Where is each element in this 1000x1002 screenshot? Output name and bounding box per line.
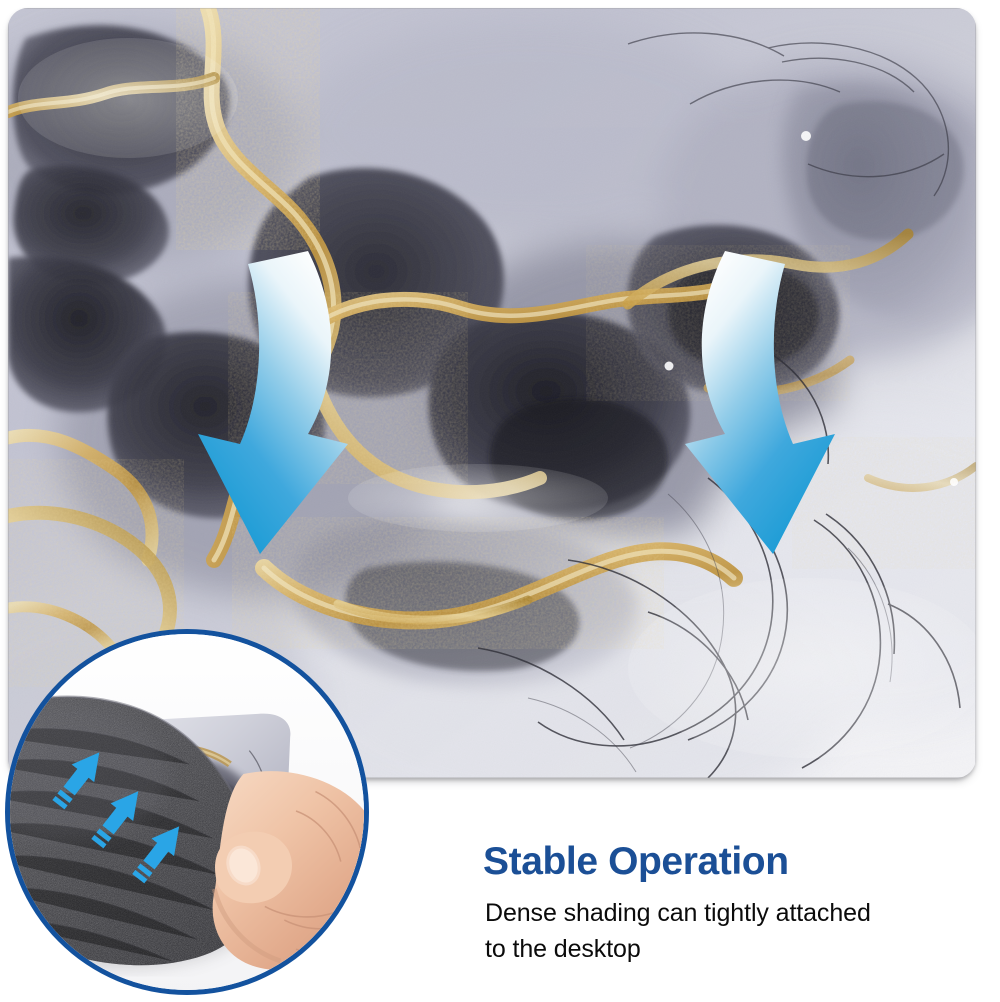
feature-text-block: Stable Operation Dense shading can tight…	[483, 839, 953, 967]
anti-slip-backing-inset-photo	[5, 629, 369, 995]
feature-subtext-line-1: Dense shading can tightly attached	[485, 899, 871, 927]
feature-subtext-line-2: to the desktop	[485, 935, 641, 963]
product-feature-image: Stable Operation Dense shading can tight…	[0, 0, 1000, 1002]
hand-lifting-mousepad-illustration	[5, 629, 369, 995]
feature-subtext: Dense shading can tightly attached to th…	[485, 895, 953, 967]
hand-icon	[213, 771, 369, 970]
feature-heading: Stable Operation	[483, 839, 953, 885]
